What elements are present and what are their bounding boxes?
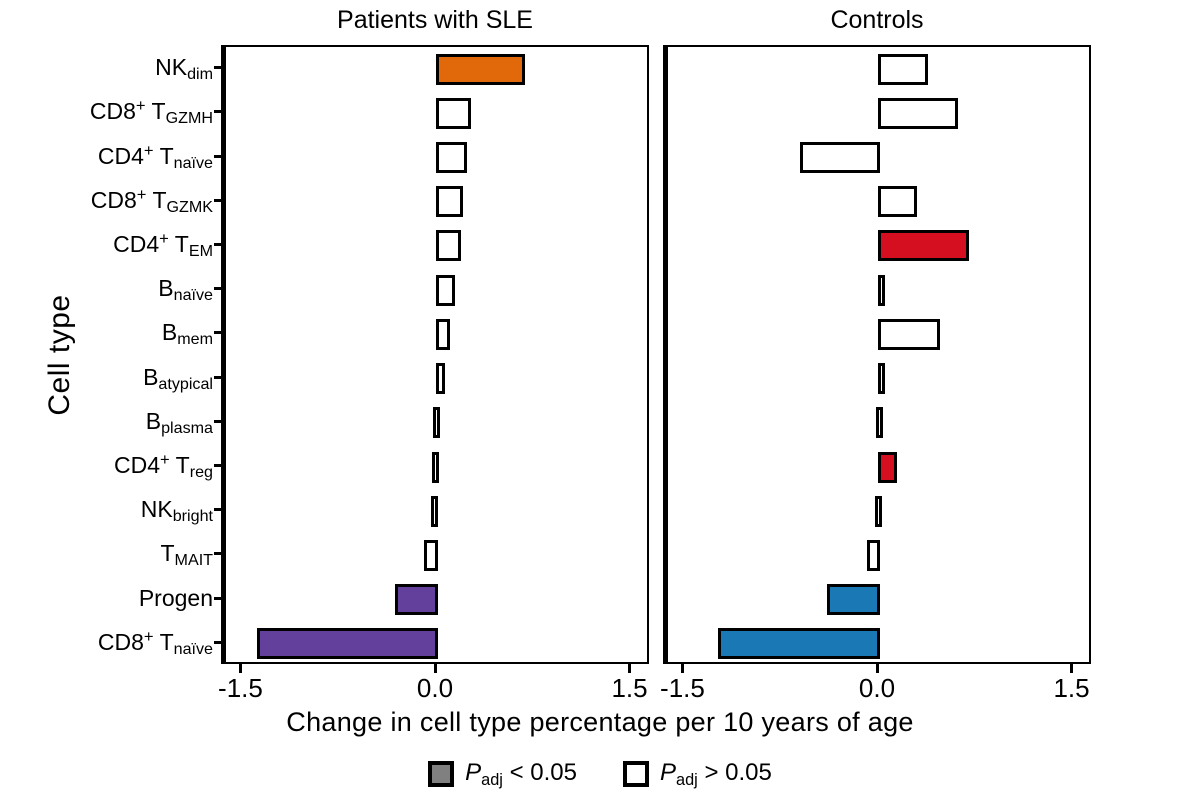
bar-left-cd8-t-gzmk <box>436 186 464 217</box>
x-axis-tick-label: 0.0 <box>832 673 922 703</box>
y-axis-tick <box>214 420 221 423</box>
y-axis-label-cd8-t-naive: CD8+ Tnaïve <box>98 631 213 653</box>
bar-right-cd8-t-gzmk <box>878 186 917 217</box>
bar-left-t-mait <box>424 540 439 571</box>
bar-left-cd4-t-em <box>436 230 461 261</box>
y-axis-label-cd4-t-em: CD4+ TEM <box>113 233 213 255</box>
plot-panel-sle <box>221 45 649 664</box>
legend-swatch-not-significant <box>623 761 649 787</box>
y-axis-label-b-atypical: Batypical <box>143 366 213 388</box>
bar-right-b-naive <box>878 275 885 306</box>
bar-left-nk-bright <box>431 496 439 527</box>
bar-right-cd8-t-naive <box>718 628 881 659</box>
bar-left-nk-dim <box>436 54 526 85</box>
x-axis-tick <box>434 664 437 673</box>
legend-item-significant: Padj < 0.05 <box>428 760 577 788</box>
y-axis-label-nk-bright: NKbright <box>141 498 213 520</box>
x-axis-tick-label: 1.5 <box>1027 673 1117 703</box>
x-axis-tick <box>681 664 684 673</box>
bar-right-b-plasma <box>876 407 883 438</box>
x-axis-tick-label: 0.0 <box>390 673 480 703</box>
legend-item-not-significant: Padj > 0.05 <box>623 760 772 788</box>
x-axis-tick <box>876 664 879 673</box>
bar-right-nk-dim <box>878 54 929 85</box>
bar-left-cd4-t-reg <box>432 452 439 483</box>
y-axis-label-t-mait: TMAIT <box>160 542 213 564</box>
y-axis-label-b-naive: Bnaïve <box>158 277 213 299</box>
plot-panel-controls <box>663 45 1091 664</box>
y-axis-label-cd8-t-gzmh: CD8+ TGZMH <box>90 100 213 122</box>
bar-right-b-mem <box>878 319 941 350</box>
legend-label-not-significant: Padj > 0.05 <box>660 760 772 788</box>
y-axis-label-cd4-t-reg: CD4+ Treg <box>114 454 213 476</box>
y-axis-tick <box>214 243 221 246</box>
x-axis-left <box>221 664 649 673</box>
x-axis-tick-label: -1.5 <box>637 673 727 703</box>
panel-title-controls: Controls <box>663 8 1091 33</box>
panel-title-sle: Patients with SLE <box>221 8 649 33</box>
legend-swatch-significant <box>428 761 454 787</box>
y-axis-tick <box>214 199 221 202</box>
y-axis-tick <box>214 110 221 113</box>
bar-right-b-atypical <box>878 363 885 394</box>
y-axis-tick <box>214 66 221 69</box>
bar-left-b-naive <box>436 275 456 306</box>
y-axis-tick <box>214 331 221 334</box>
zero-reference-line-left <box>223 47 226 662</box>
y-axis-label-cd8-t-gzmk: CD8+ TGZMK <box>91 189 213 211</box>
bar-right-cd4-t-naive <box>800 142 881 173</box>
x-axis-title: Change in cell type percentage per 10 ye… <box>0 706 1200 738</box>
y-axis-label-nk-dim: NKdim <box>155 56 213 78</box>
x-axis-right <box>663 664 1091 673</box>
x-axis-tick <box>628 664 631 673</box>
y-axis-label-progen: Progen <box>139 587 213 609</box>
bar-left-cd8-t-naive <box>257 628 439 659</box>
bar-chart-figure: Patients with SLE Controls Cell type NKd… <box>0 0 1200 806</box>
y-axis-tick-labels: NKdimCD8+ TGZMHCD4+ TnaïveCD8+ TGZMKCD4+… <box>0 45 213 664</box>
bar-right-cd8-t-gzmh <box>878 98 959 129</box>
bar-right-cd4-t-em <box>878 230 969 261</box>
bar-right-progen <box>827 584 881 615</box>
bar-right-cd4-t-reg <box>878 452 898 483</box>
y-axis-tick <box>214 155 221 158</box>
x-axis-tick-label: -1.5 <box>195 673 285 703</box>
bar-right-t-mait <box>867 540 880 571</box>
bar-left-b-atypical <box>436 363 445 394</box>
x-axis-tick <box>239 664 242 673</box>
bar-left-b-mem <box>436 319 450 350</box>
y-axis-tick <box>214 287 221 290</box>
y-axis-tick <box>214 641 221 644</box>
y-axis-tick <box>214 376 221 379</box>
y-axis-label-b-plasma: Bplasma <box>146 410 213 432</box>
x-axis-tick <box>1070 664 1073 673</box>
bar-left-cd8-t-gzmh <box>436 98 471 129</box>
y-axis-tick <box>214 508 221 511</box>
bar-left-cd4-t-naive <box>436 142 468 173</box>
bar-left-b-plasma <box>433 407 440 438</box>
y-axis-tick <box>214 464 221 467</box>
y-axis-label-cd4-t-naive: CD4+ Tnaïve <box>98 145 213 167</box>
legend: Padj < 0.05Padj > 0.05 <box>0 760 1200 788</box>
y-axis-label-b-mem: Bmem <box>162 321 213 343</box>
zero-reference-line-right <box>665 47 668 662</box>
y-axis-tick <box>214 597 221 600</box>
y-axis-tick <box>214 552 221 555</box>
legend-label-significant: Padj < 0.05 <box>465 760 577 788</box>
bar-right-nk-bright <box>875 496 882 527</box>
bar-left-progen <box>395 584 438 615</box>
